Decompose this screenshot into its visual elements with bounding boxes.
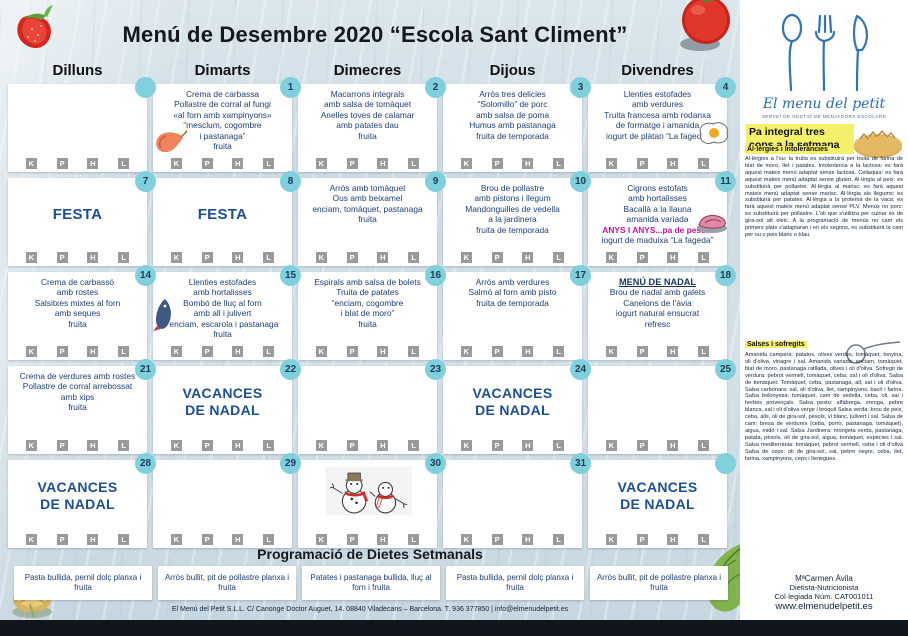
menu-line: MENÚ DE NADAL (591, 277, 724, 287)
badge-k: K (316, 158, 327, 169)
menu-line: Cigrons estofats (591, 183, 724, 193)
badge-k: K (171, 440, 182, 451)
allergen-badges: KPHL (8, 346, 147, 357)
signature-block: MªCarmen Ávila Dietista-Nutricionista Co… (740, 574, 908, 612)
badge-k: K (606, 158, 617, 169)
menu-line: fruita (11, 319, 144, 329)
menu-line: “enciam, cogombre (301, 298, 434, 308)
badge-h: H (522, 252, 533, 263)
menu-line: amb all i julivert (156, 308, 289, 318)
badge-h: H (377, 534, 388, 545)
allergen-badges: KPHL (443, 440, 582, 451)
cell-notice: VACANCESDE NADAL (153, 366, 292, 438)
badge-l: L (408, 252, 419, 263)
sidebar: El menu del petit SERVEI DE GESTIÓ DE ME… (740, 0, 908, 620)
badge-h: H (377, 346, 388, 357)
menu-line: Arròs amb tomàquet (301, 183, 434, 193)
diet-card-2[interactable]: Arròs bullit, pit de pollastre planxa i … (158, 566, 296, 600)
calendar-cell-7[interactable]: 7FESTAKPHL (8, 178, 147, 266)
badge-k: K (316, 346, 327, 357)
menu-line: amb verdures (591, 99, 724, 109)
allergen-badges: KPHL (8, 158, 147, 169)
menu-line: Humus amb pastanaga (446, 120, 579, 130)
allergen-badges: KPHL (298, 252, 437, 263)
badge-h: H (232, 252, 243, 263)
menu-text: Arròs amb tomàquetOus amb beixamelenciam… (301, 183, 434, 225)
menu-line: enciam, tomàquet, pastanaga (301, 204, 434, 214)
badge-k: K (26, 440, 37, 451)
badge-l: L (408, 534, 419, 545)
badge-k: K (606, 346, 617, 357)
badge-h: H (667, 534, 678, 545)
menu-text: Arròs tres delicies“Solomillo” de porcam… (446, 89, 579, 141)
menu-line: fruita (301, 131, 434, 141)
cell-notice-line: FESTA (198, 206, 248, 223)
calendar-cell-18[interactable]: 18MENÚ DE NADALBrou de nadal amb galetsC… (588, 272, 727, 360)
day-number: 15 (280, 265, 301, 286)
menu-line: Espirals amb salsa de bolets (301, 277, 434, 287)
badge-h: H (667, 252, 678, 263)
calendar-cell-4[interactable]: 4Llenties estofadesamb verduresTruita fr… (588, 84, 727, 172)
cell-notice-line: VACANCES (618, 479, 698, 496)
badge-l: L (263, 534, 274, 545)
menu-line: «al forn amb xampinyons» (156, 110, 289, 120)
badge-k: K (26, 346, 37, 357)
badge-k: K (26, 252, 37, 263)
badge-k: K (461, 440, 472, 451)
badge-l: L (698, 252, 709, 263)
badge-p: P (202, 440, 213, 451)
badge-k: K (316, 440, 327, 451)
badge-h: H (232, 534, 243, 545)
calendar-cell-11[interactable]: 11Cigrons estofatsamb hortalissesBacallà… (588, 178, 727, 266)
badge-p: P (202, 346, 213, 357)
menu-text: Espirals amb salsa de boletsTruita de pa… (301, 277, 434, 329)
badge-p: P (637, 252, 648, 263)
allergen-badges: KPHL (153, 346, 292, 357)
cell-notice-line: DE NADAL (40, 496, 115, 513)
menu-line: “enciam, escarola i pastanaga (156, 319, 289, 329)
calendar-cell-31[interactable]: 31KPHL (443, 460, 582, 548)
badge-k: K (461, 534, 472, 545)
badge-p: P (57, 534, 68, 545)
menu-text: Crema de carbassóamb rostesSalsitxes mix… (11, 277, 144, 329)
calendar-cell-9[interactable]: 9Arròs amb tomàquetOus amb beixamelencia… (298, 178, 437, 266)
day-number: 28 (135, 453, 156, 474)
badge-h: H (667, 158, 678, 169)
menu-line: amb salsa de poma (446, 110, 579, 120)
allergen-badges: KPHL (443, 346, 582, 357)
menu-line: amb hortalisses (591, 193, 724, 203)
menu-line: Brou de nadal amb galets (591, 287, 724, 297)
cell-notice: FESTA (153, 178, 292, 250)
menu-line: fruita (11, 402, 144, 412)
menu-line: i blat de moro” (301, 308, 434, 318)
menu-text: Macarrons integralsamb salsa de tomàquet… (301, 89, 434, 141)
calendar-cell-29[interactable]: 29KPHL (153, 460, 292, 548)
day-number: 2 (425, 77, 446, 98)
day-number: 30 (425, 453, 446, 474)
company-footer: El Menú del Petit S.L.L. C/ Canonge Doct… (0, 606, 740, 613)
allergen-badges: KPHL (8, 252, 147, 263)
calendar-grid: KPHL1Crema de carbassaPollastre de corra… (8, 84, 734, 536)
badge-l: L (118, 252, 129, 263)
menu-line: Crema de carbassó (11, 277, 144, 287)
badge-l: L (118, 440, 129, 451)
badge-l: L (698, 440, 709, 451)
day-number: 8 (280, 171, 301, 192)
badge-p: P (347, 534, 358, 545)
badge-l: L (263, 440, 274, 451)
fish-icon (153, 298, 175, 332)
badge-h: H (522, 440, 533, 451)
badge-k: K (316, 534, 327, 545)
cell-notice: VACANCESDE NADAL (8, 460, 147, 532)
calendar-cell-16[interactable]: 16Espirals amb salsa de boletsTruita de … (298, 272, 437, 360)
day-number: 21 (135, 359, 156, 380)
day-number: 23 (425, 359, 446, 380)
signature-role: Dietista-Nutricionista (740, 583, 908, 592)
badge-l: L (698, 534, 709, 545)
menu-text: MENÚ DE NADALBrou de nadal amb galetsCan… (591, 277, 724, 329)
menu-line: amb pistons i llegum (446, 193, 579, 203)
calendar-cell-3[interactable]: 3Arròs tres delicies“Solomillo” de porca… (443, 84, 582, 172)
day-number: 18 (715, 265, 736, 286)
calendar-cell-8[interactable]: 8FESTAKPHL (153, 178, 292, 266)
badge-k: K (606, 534, 617, 545)
day-number: 11 (715, 171, 736, 192)
allergy-heading: Al·lèrgies i Intoleràncies (745, 146, 830, 153)
day-number: 22 (280, 359, 301, 380)
fish-steak-icon (695, 212, 729, 234)
badge-l: L (408, 346, 419, 357)
allergen-badges: KPHL (588, 252, 727, 263)
badge-p: P (202, 252, 213, 263)
allergen-badges: KPHL (153, 534, 292, 545)
badge-p: P (57, 252, 68, 263)
menu-line: fruita (301, 214, 434, 224)
day-header-divendres: Divendres (588, 62, 727, 82)
day-number: 4 (715, 77, 736, 98)
badge-p: P (202, 534, 213, 545)
calendar-cell[interactable]: KPHL (8, 84, 147, 172)
badge-l: L (263, 158, 274, 169)
menu-line: fruita de temporada (446, 131, 579, 141)
cell-notice-line: DE NADAL (185, 402, 260, 419)
menu-line: Arròs amb verdures (446, 277, 579, 287)
strawberry-icon (8, 4, 64, 54)
badge-k: K (26, 158, 37, 169)
menu-line: Truita de patates (301, 287, 434, 297)
day-number: 31 (570, 453, 591, 474)
menu-line: Llenties estofades (156, 277, 289, 287)
allergen-badges: KPHL (588, 346, 727, 357)
day-header-dijous: Dijous (443, 62, 582, 82)
calendar-cell-10[interactable]: 10Brou de pollastreamb pistons i llegumM… (443, 178, 582, 266)
menu-line: amb hortalisses (156, 287, 289, 297)
allergen-badges: KPHL (298, 534, 437, 545)
ham-icon (153, 128, 187, 154)
day-header-dilluns: Dilluns (8, 62, 147, 82)
allergen-badges: KPHL (443, 534, 582, 545)
badge-l: L (118, 534, 129, 545)
calendar-cell-30[interactable]: 30KPHL (298, 460, 437, 548)
allergen-badges: KPHL (153, 158, 292, 169)
menu-line: fruita (301, 319, 434, 329)
diet-card-5[interactable]: Arròs bullit, pit de pollastre planxa i … (590, 566, 728, 600)
day-number: 16 (425, 265, 446, 286)
badge-h: H (87, 440, 98, 451)
allergen-badges: KPHL (153, 252, 292, 263)
menu-line: refresc (591, 319, 724, 329)
badge-p: P (347, 346, 358, 357)
calendar-cell-21[interactable]: 21Crema de verdures amb rostesPollastre … (8, 366, 147, 454)
badge-l: L (698, 346, 709, 357)
badge-h: H (87, 158, 98, 169)
menu-text: Brou de pollastreamb pistons i llegumMan… (446, 183, 579, 235)
allergen-badges: KPHL (588, 534, 727, 545)
calendar-cell-25[interactable]: 25KPHL (588, 366, 727, 454)
badge-l: L (263, 252, 274, 263)
badge-p: P (492, 346, 503, 357)
day-number: 25 (715, 359, 736, 380)
cutlery-logo-icon (758, 10, 890, 102)
menu-line: iogurt de maduixa “La fageda” (591, 235, 724, 245)
page-title: Menú de Desembre 2020 “Escola Sant Clime… (60, 22, 690, 48)
badge-p: P (57, 440, 68, 451)
menu-line: Salsitxes mixtes al forn (11, 298, 144, 308)
badge-h: H (87, 534, 98, 545)
menu-text: Crema de verdures amb rostesPollastre de… (11, 371, 144, 413)
snowmen-icon (326, 464, 412, 518)
calendar-cell-17[interactable]: 17Arròs amb verduresSalmó al forn amb pi… (443, 272, 582, 360)
menu-line: Brou de pollastre (446, 183, 579, 193)
calendar-cell-23[interactable]: 23KPHL (298, 366, 437, 454)
badge-k: K (26, 534, 37, 545)
badge-k: K (171, 346, 182, 357)
menu-line: Anelles toves de calamar (301, 110, 434, 120)
badge-p: P (637, 534, 648, 545)
badge-h: H (522, 158, 533, 169)
menu-line: amb xips (11, 392, 144, 402)
calendar-cell[interactable]: VACANCESDE NADALKPHL (588, 460, 727, 548)
badge-l: L (408, 158, 419, 169)
badge-h: H (667, 346, 678, 357)
calendar-cell-1[interactable]: 1Crema de carbassaPollastre de corral al… (153, 84, 292, 172)
day-number: 3 (570, 77, 591, 98)
menu-line: Crema de verdures amb rostes (11, 371, 144, 381)
badge-l: L (553, 158, 564, 169)
badge-k: K (171, 252, 182, 263)
badge-l: L (698, 158, 709, 169)
cell-notice: VACANCESDE NADAL (588, 460, 727, 532)
badge-k: K (461, 346, 472, 357)
menu-line: Truita francesa amb rodanxa (591, 110, 724, 120)
menu-line: Pollastre de corral al fungi (156, 99, 289, 109)
cell-notice: VACANCESDE NADAL (443, 366, 582, 438)
menu-line: Pollastre de corral arrebossat (11, 381, 144, 391)
allergen-badges: KPHL (298, 158, 437, 169)
allergen-badges: KPHL (298, 440, 437, 451)
weekly-diets-title: Programació de Dietes Setmanals (0, 546, 740, 562)
menu-text: Arròs amb verduresSalmó al forn amb pist… (446, 277, 579, 308)
menu-line: Crema de carbassa (156, 89, 289, 99)
menu-line: fruita (156, 329, 289, 339)
day-number: 1 (280, 77, 301, 98)
allergen-badges: KPHL (8, 534, 147, 545)
sauces-text: Amanida campera: patates, olives verdes,… (745, 352, 903, 463)
brand-subtitle: SERVEI DE GESTIÓ DE MENJADORS ESCOLARS (740, 114, 908, 119)
cell-notice: FESTA (8, 178, 147, 250)
badge-h: H (522, 346, 533, 357)
fried-egg-icon (697, 120, 731, 146)
badge-l: L (553, 252, 564, 263)
badge-h: H (87, 252, 98, 263)
menu-line: Arròs tres delicies (446, 89, 579, 99)
allergen-badges: KPHL (443, 158, 582, 169)
allergen-badges: KPHL (8, 440, 147, 451)
calendar-cell-2[interactable]: 2Macarrons integralsamb salsa de tomàque… (298, 84, 437, 172)
badge-p: P (57, 346, 68, 357)
weekly-diets-row: Pasta bullida, pernil dolç planxa i frui… (14, 566, 730, 600)
day-header-dimarts: Dimarts (153, 62, 292, 82)
allergen-badges: KPHL (443, 252, 582, 263)
menu-line: amb salsa de tomàquet (301, 99, 434, 109)
badge-p: P (57, 158, 68, 169)
cell-notice-line: VACANCES (183, 385, 263, 402)
badge-l: L (553, 534, 564, 545)
badge-p: P (492, 252, 503, 263)
badge-h: H (667, 440, 678, 451)
day-number: 24 (570, 359, 591, 380)
allergy-text: Al·lèrgies a l'ou: la truita es substitu… (745, 156, 903, 239)
day-number: 10 (570, 171, 591, 192)
badge-l: L (408, 440, 419, 451)
badge-k: K (171, 158, 182, 169)
badge-h: H (377, 158, 388, 169)
menu-line: amb seques (11, 308, 144, 318)
allergen-badges: KPHL (298, 346, 437, 357)
diet-card-1[interactable]: Pasta bullida, pernil dolç planxa i frui… (14, 566, 152, 600)
day-number-blank (135, 77, 156, 98)
day-number: 29 (280, 453, 301, 474)
allergen-badges: KPHL (588, 440, 727, 451)
menu-line: fruita de temporada (446, 225, 579, 235)
badge-k: K (171, 534, 182, 545)
badge-l: L (263, 346, 274, 357)
menu-line: Llenties estofades (591, 89, 724, 99)
badge-p: P (637, 346, 648, 357)
menu-text: Llenties estofadesamb hortalissesBombó d… (156, 277, 289, 339)
badge-h: H (377, 440, 388, 451)
badge-h: H (232, 158, 243, 169)
badge-l: L (118, 158, 129, 169)
menu-line: amb patates dau (301, 120, 434, 130)
day-number-blank (715, 453, 736, 474)
menu-line: a la jardinera (446, 214, 579, 224)
calendar-cell-28[interactable]: 28VACANCESDE NADALKPHL (8, 460, 147, 548)
cell-notice-line: FESTA (53, 206, 103, 223)
diet-card-3[interactable]: Patates i pastanaga bullida, lluç al for… (302, 566, 440, 600)
menu-line: Macarrons integrals (301, 89, 434, 99)
badge-k: K (461, 252, 472, 263)
menu-line: Bombó de lluç al forn (156, 298, 289, 308)
cell-notice-line: DE NADAL (475, 402, 550, 419)
allergen-badges: KPHL (588, 158, 727, 169)
day-number: 17 (570, 265, 591, 286)
day-header-dimecres: Dimecres (298, 62, 437, 82)
badge-h: H (377, 252, 388, 263)
badge-h: H (87, 346, 98, 357)
badge-h: H (232, 440, 243, 451)
badge-h: H (232, 346, 243, 357)
badge-l: L (553, 440, 564, 451)
badge-k: K (606, 440, 617, 451)
menu-line: amb rostes (11, 287, 144, 297)
badge-p: P (637, 440, 648, 451)
calendar-cell-22[interactable]: 22VACANCESDE NADALKPHL (153, 366, 292, 454)
menu-line: Ous amb beixamel (301, 193, 434, 203)
menu-line: Canelons de l’àvia (591, 298, 724, 308)
menu-line: Mandonguilles de vedella (446, 204, 579, 214)
badge-p: P (347, 158, 358, 169)
badge-p: P (492, 534, 503, 545)
badge-h: H (522, 534, 533, 545)
badge-p: P (637, 158, 648, 169)
menu-line: “Solomillo” de porc (446, 99, 579, 109)
badge-k: K (316, 252, 327, 263)
badge-p: P (492, 158, 503, 169)
menu-line: iogurt natural ensucrat (591, 308, 724, 318)
badge-p: P (347, 252, 358, 263)
badge-k: K (461, 158, 472, 169)
allergen-badges: KPHL (153, 440, 292, 451)
badge-l: L (118, 346, 129, 357)
badge-p: P (202, 158, 213, 169)
calendar-cell-14[interactable]: 14Crema de carbassóamb rostesSalsitxes m… (8, 272, 147, 360)
calendar-cell-15[interactable]: 15Llenties estofadesamb hortalissesBombó… (153, 272, 292, 360)
calendar-cell-24[interactable]: 24VACANCESDE NADALKPHL (443, 366, 582, 454)
day-number: 9 (425, 171, 446, 192)
brand-name: El menu del petit (740, 96, 908, 112)
menu-poster: Menú de Desembre 2020 “Escola Sant Clime… (0, 0, 908, 636)
badge-l: L (553, 346, 564, 357)
badge-k: K (606, 252, 617, 263)
day-number: 7 (135, 171, 156, 192)
signature-website: www.elmenudelpetit.es (740, 601, 908, 612)
cell-notice-line: DE NADAL (620, 496, 695, 513)
signature-license: Col·legiada Núm. CAT001011 (740, 592, 908, 601)
badge-p: P (492, 440, 503, 451)
cell-notice-line: VACANCES (38, 479, 118, 496)
sauces-heading: Salses i sofregits (745, 341, 807, 348)
menu-line: Salmó al forn amb pisto (446, 287, 579, 297)
menu-line: fruita de temporada (446, 298, 579, 308)
signature-name: MªCarmen Ávila (740, 574, 908, 583)
badge-p: P (347, 440, 358, 451)
day-number: 14 (135, 265, 156, 286)
cell-notice-line: VACANCES (473, 385, 553, 402)
diet-card-4[interactable]: Pasta bullida, pernil dolç planxa i frui… (446, 566, 584, 600)
